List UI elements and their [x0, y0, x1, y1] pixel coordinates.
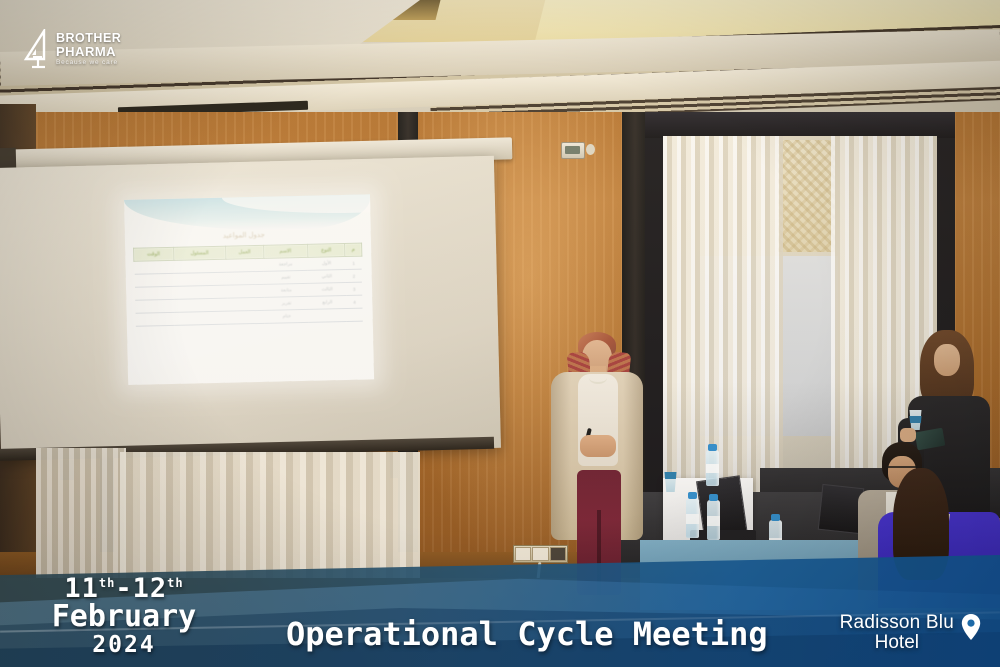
slide-table: م النوع الاسم العمل المسئول الوقت 1 الأو… — [133, 243, 363, 327]
cell — [174, 298, 227, 312]
cell — [135, 299, 175, 313]
attendee-face — [934, 344, 960, 376]
outlet-socket-2 — [532, 547, 548, 561]
cell: الثاني — [308, 269, 346, 283]
cell: تقرير — [264, 296, 308, 310]
bottle-label — [686, 514, 699, 524]
water-bottle — [707, 500, 720, 540]
cell — [346, 308, 363, 321]
slide-col-2: الاسم — [263, 244, 307, 258]
slide-title: جدول المواعيد — [125, 229, 363, 242]
thermostat-sensor-icon — [586, 144, 595, 155]
cell — [226, 271, 264, 285]
slide-col-5: الوقت — [134, 247, 174, 261]
cell: 1 — [345, 256, 362, 269]
presenter-necklace — [589, 372, 607, 384]
slide-col-4: المسئول — [173, 246, 226, 260]
brand-line-2: PHARMA — [56, 45, 121, 58]
cell: 4 — [346, 295, 363, 308]
cell — [135, 312, 175, 326]
presenter-leg-separation — [597, 510, 601, 595]
cell — [309, 308, 347, 322]
presenter-coat-shading-left — [551, 372, 571, 540]
cell — [227, 310, 265, 324]
cell: 3 — [346, 282, 363, 295]
cell — [134, 260, 174, 274]
coffee-cup-band — [908, 416, 923, 423]
projected-slide: جدول المواعيد م النوع الاسم العمل المسئو… — [124, 194, 374, 385]
cell: متابعة — [264, 283, 308, 297]
bottle-cap-icon — [708, 444, 717, 451]
wall-power-outlet[interactable] — [513, 545, 568, 563]
cell — [134, 273, 174, 287]
cell — [227, 284, 265, 298]
cell — [227, 297, 265, 311]
triangle-sail-logo-icon — [22, 29, 52, 69]
bottle-cap-icon — [709, 494, 718, 501]
paper-cup-band — [663, 472, 678, 479]
cell — [175, 311, 228, 325]
cell — [226, 258, 264, 272]
cell: تقييم — [264, 270, 308, 284]
cell: مراجعة — [264, 257, 308, 271]
cell — [174, 285, 227, 299]
left-curtain-panel-far — [36, 448, 126, 598]
bottle-label — [706, 464, 719, 473]
cell — [173, 259, 226, 273]
water-bottle — [706, 450, 719, 486]
cell: الأول — [307, 256, 345, 270]
cell: ختام — [265, 309, 309, 323]
brand-logo: BROTHER PHARMA Because we care — [22, 22, 134, 76]
outlet-socket-1 — [515, 547, 531, 561]
cell: الرابع — [308, 295, 346, 309]
seated-woman-hair — [893, 468, 949, 580]
brand-tagline: Because we care — [56, 60, 121, 67]
cell — [174, 272, 227, 286]
presenter-coat-shading-right — [623, 372, 643, 540]
window-header-valance — [645, 112, 955, 138]
slide-col-3: العمل — [226, 245, 264, 259]
screenshot-root: جدول المواعيد م النوع الاسم العمل المسئو… — [0, 0, 1000, 667]
conference-room-photo: جدول المواعيد م النوع الاسم العمل المسئو… — [0, 0, 1000, 667]
thermostat[interactable] — [561, 142, 585, 159]
brand-line-1: BROTHER — [56, 32, 121, 45]
bottle-cap-icon — [688, 492, 697, 499]
outlet-socket-3 — [550, 547, 566, 561]
cell — [134, 286, 174, 300]
brand-logo-text: BROTHER PHARMA Because we care — [56, 32, 121, 66]
cell: الثالث — [308, 282, 346, 296]
slide-col-0: م — [345, 243, 362, 256]
attendee-hand — [900, 428, 916, 442]
cell: 2 — [346, 269, 363, 282]
slide-col-1: النوع — [307, 243, 345, 257]
presenter-hands — [580, 435, 616, 457]
water-bottle — [686, 498, 699, 538]
bottle-label — [707, 516, 720, 526]
bottle-cap-icon — [771, 514, 780, 521]
